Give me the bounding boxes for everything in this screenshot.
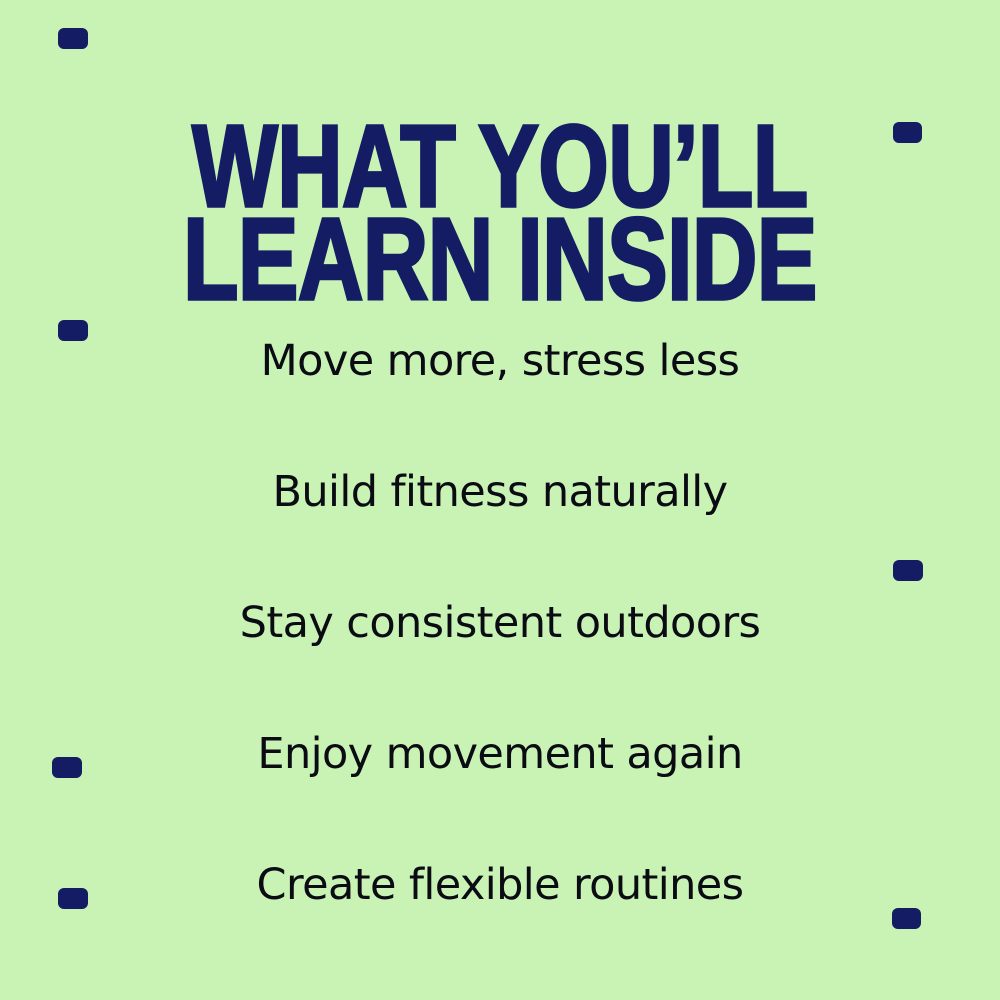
list-item-label: Stay consistent outdoors: [240, 602, 761, 645]
list-item-label: Create flexible routines: [257, 864, 744, 907]
list-item: Move more, stress less: [0, 296, 1000, 427]
page-title: WHAT YOU’LL LEARN INSIDE: [110, 120, 890, 306]
learn-list: Move more, stress less Build fitness nat…: [0, 296, 1000, 951]
list-item: Stay consistent outdoors: [0, 558, 1000, 689]
list-item: Enjoy movement again: [0, 689, 1000, 820]
list-item: Create flexible routines: [0, 820, 1000, 951]
list-item-label: Move more, stress less: [261, 340, 740, 383]
dash-mark-right-upper: [893, 122, 922, 143]
page-title-line-2: LEARN INSIDE: [110, 213, 890, 306]
list-item-label: Enjoy movement again: [257, 733, 742, 776]
list-item-label: Build fitness naturally: [272, 471, 727, 514]
poster-canvas: WHAT YOU’LL LEARN INSIDE Move more, stre…: [0, 0, 1000, 1000]
list-item: Build fitness naturally: [0, 427, 1000, 558]
dash-mark-top-left: [58, 28, 88, 49]
